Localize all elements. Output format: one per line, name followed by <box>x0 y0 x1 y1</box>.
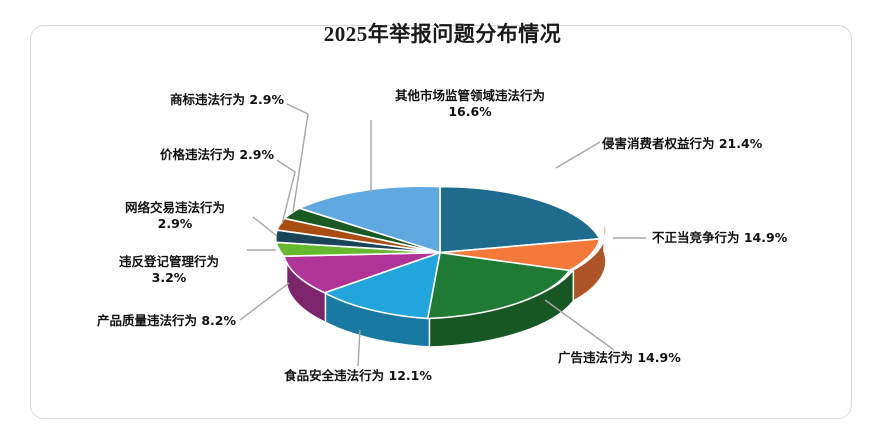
pie-label-pricing: 价格违法行为 2.9% <box>60 147 274 163</box>
leader-line-online-trading <box>253 217 277 236</box>
pie-label-registration: 违反登记管理行为 3.2% <box>95 254 243 285</box>
pie-label-product-quality: 产品质量违法行为 8.2% <box>20 313 236 329</box>
pie-label-other-market-supervision: 其他市场监管领域违法行为 16.6% <box>350 88 590 119</box>
pie-label-food-safety: 食品安全违法行为 12.1% <box>248 368 468 384</box>
pie-label-unfair-competition: 不正当竞争行为 14.9% <box>652 230 862 246</box>
pie-label-trademark: 商标违法行为 2.9% <box>70 92 284 108</box>
pie-label-online-trading: 网络交易违法行为 2.9% <box>100 200 250 231</box>
leader-line-consumer-rights <box>556 142 600 168</box>
pie-label-advertising: 广告违法行为 14.9% <box>558 350 768 366</box>
pie-label-consumer-rights: 侵害消费者权益行为 21.4% <box>602 136 832 152</box>
leader-line-advertising <box>545 300 614 350</box>
leader-line-trademark <box>287 104 308 212</box>
leader-line-product-quality <box>240 283 289 320</box>
